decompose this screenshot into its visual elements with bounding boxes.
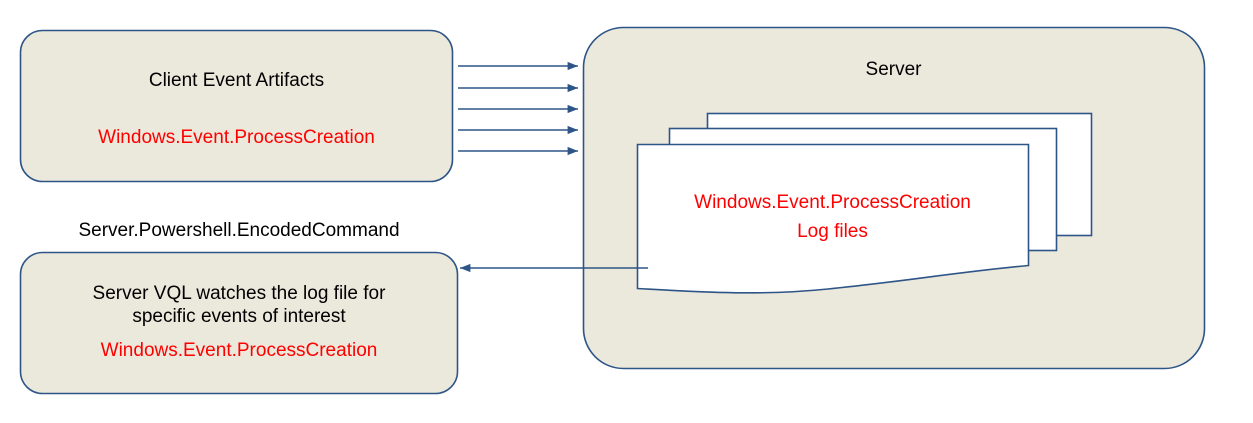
server-vql-external-label: Server.Powershell.EncodedCommand xyxy=(20,220,458,242)
server-box-title: Server xyxy=(583,59,1204,81)
diagram-canvas: Client Event Artifacts Windows.Event.Pro… xyxy=(0,0,1253,423)
client-box-shape xyxy=(21,31,453,182)
log-document-front-shape xyxy=(638,145,1029,293)
server-vql-artifact-label: Windows.Event.ProcessCreation xyxy=(24,340,454,362)
client-box-title: Client Event Artifacts xyxy=(20,70,453,92)
log-documents-line2: Log files xyxy=(637,221,1028,243)
log-documents-line1: Windows.Event.ProcessCreation xyxy=(637,192,1028,214)
server-vql-line1: Server VQL watches the log file for xyxy=(24,283,454,305)
client-box-artifact-label: Windows.Event.ProcessCreation xyxy=(20,127,453,149)
server-vql-line2: specific events of interest xyxy=(24,306,454,328)
